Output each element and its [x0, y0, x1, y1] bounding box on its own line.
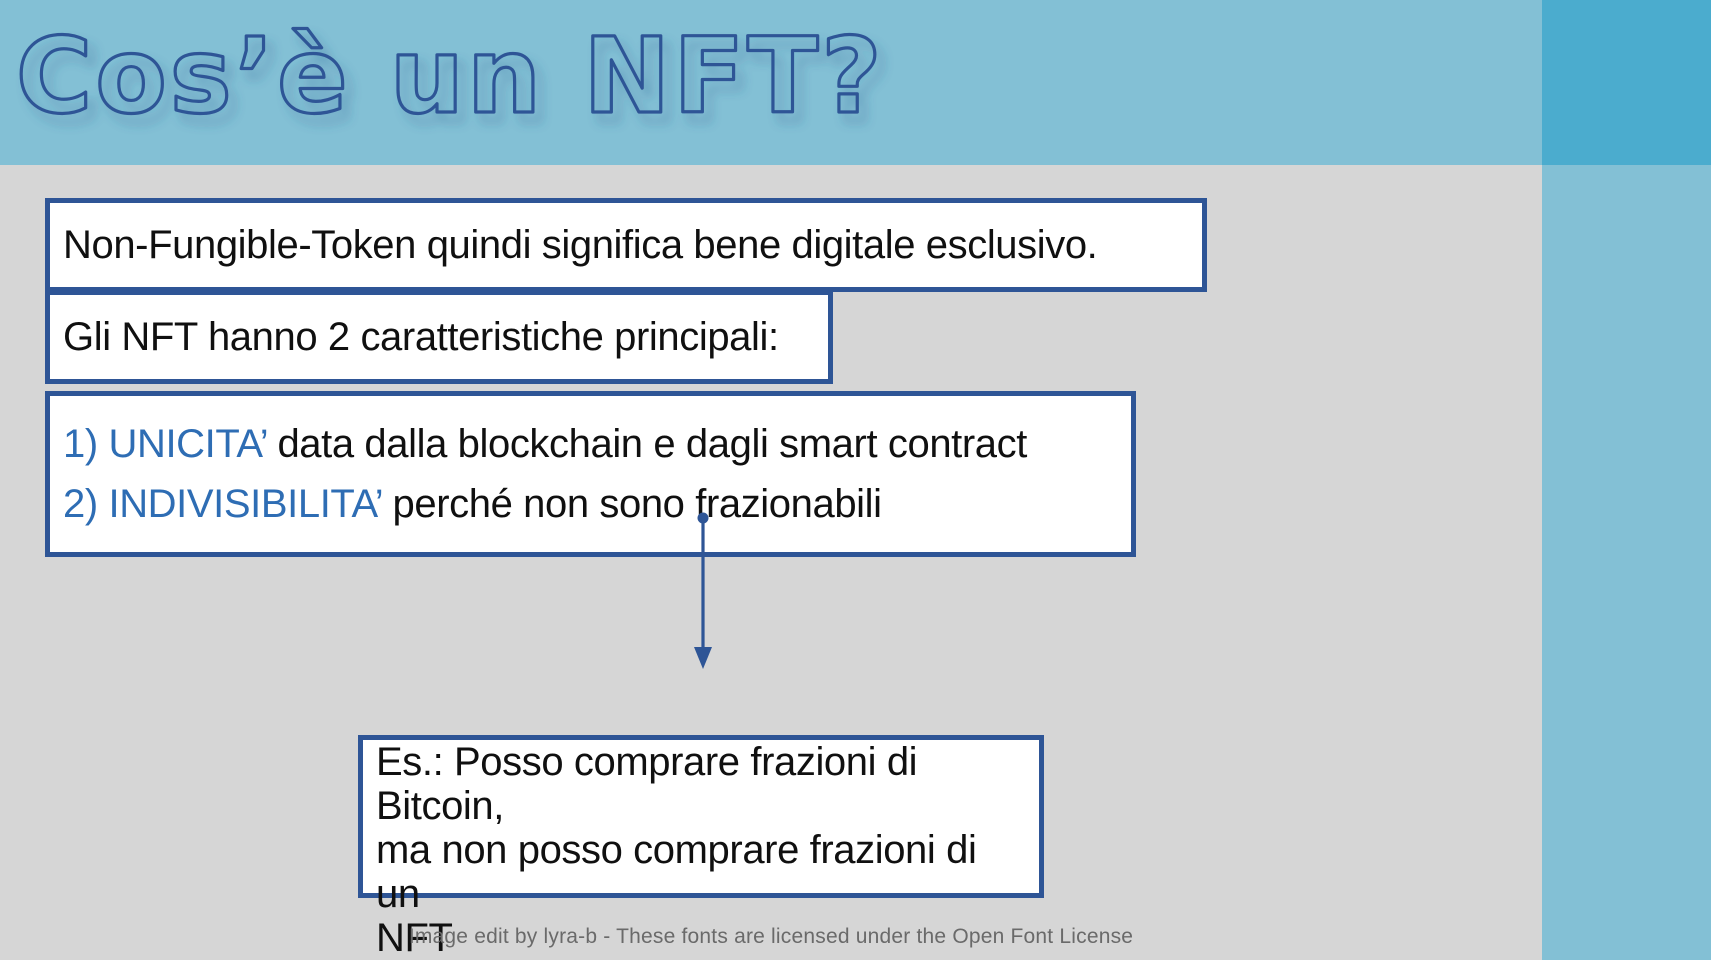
feature-1-label: 1) UNICITA’ [63, 422, 267, 466]
example-line-1: Es.: Posso comprare frazioni di Bitcoin, [376, 740, 1026, 828]
features-box: 1) UNICITA’ data dalla blockchain e dagl… [45, 391, 1136, 557]
feature-item-2: 2) INDIVISIBILITA’ perché non sono frazi… [63, 479, 1118, 529]
characteristics-box: Gli NFT hanno 2 caratteristiche principa… [45, 290, 833, 384]
definition-box: Non-Fungible-Token quindi significa bene… [45, 198, 1207, 292]
example-box: Es.: Posso comprare frazioni di Bitcoin,… [358, 735, 1044, 898]
feature-item-1: 1) UNICITA’ data dalla blockchain e dagl… [63, 419, 1118, 469]
feature-2-rest: perché non sono frazionabili [382, 482, 882, 526]
footer-credit: Image edit by lyra-b - These fonts are l… [0, 925, 1542, 949]
slide-canvas: Cos’è un NFT? Non-Fungible-Token quindi … [0, 0, 1711, 960]
definition-text: Non-Fungible-Token quindi significa bene… [63, 221, 1189, 269]
example-line-2: ma non posso comprare frazioni di un [376, 828, 1026, 916]
feature-1-rest: data dalla blockchain e dagli smart cont… [267, 422, 1027, 466]
characteristics-text: Gli NFT hanno 2 caratteristiche principa… [63, 313, 815, 361]
arrow-head [694, 647, 712, 669]
right-rail-bottom [1542, 165, 1711, 960]
right-rail-top [1542, 0, 1711, 165]
title-glyphs: Cos’è un NFT? [16, 15, 885, 137]
arrow-down-icon [680, 505, 740, 745]
connector-arrow [680, 505, 740, 745]
slide-title: Cos’è un NFT? [8, 8, 908, 148]
feature-2-label: 2) INDIVISIBILITA’ [63, 482, 382, 526]
title-outline-text: Cos’è un NFT? [8, 8, 908, 148]
